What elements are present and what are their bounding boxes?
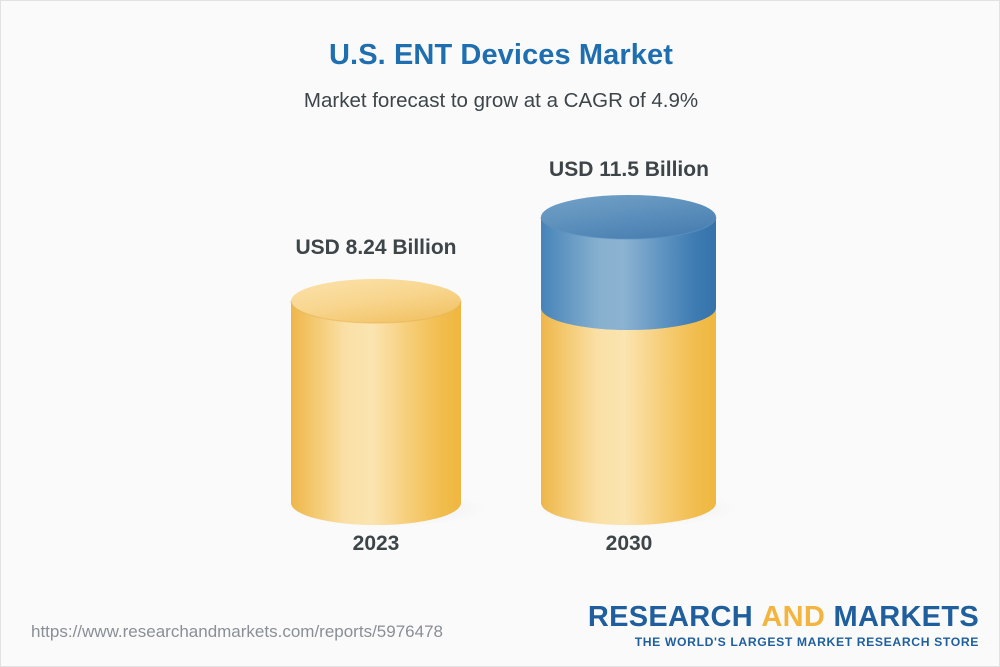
cylinder-bar-2030 xyxy=(541,195,716,525)
category-label-2023: 2023 xyxy=(286,532,466,556)
logo-tagline: THE WORLD'S LARGEST MARKET RESEARCH STOR… xyxy=(588,635,979,649)
cylinder-bars-graphic xyxy=(1,1,1000,601)
cylinder-bar-2023 xyxy=(291,279,461,525)
infographic-canvas: U.S. ENT Devices Market Market forecast … xyxy=(0,0,1000,667)
logo-wordmark: RESEARCH AND MARKETS xyxy=(588,602,979,632)
category-label-2030: 2030 xyxy=(539,532,719,556)
source-url-link[interactable]: https://www.researchandmarkets.com/repor… xyxy=(31,622,443,642)
value-label-2030: USD 11.5 Billion xyxy=(539,158,719,182)
logo-word-research: RESEARCH xyxy=(588,601,753,633)
chart-plot-area: USD 8.24 Billion USD 11.5 Billion 2023 2… xyxy=(1,1,1000,601)
value-label-2023: USD 8.24 Billion xyxy=(286,236,466,260)
logo-word-and: AND xyxy=(761,601,825,633)
footer: https://www.researchandmarkets.com/repor… xyxy=(1,596,1000,666)
logo-word-markets: MARKETS xyxy=(834,601,980,633)
brand-logo[interactable]: RESEARCH AND MARKETS THE WORLD'S LARGEST… xyxy=(588,602,979,649)
